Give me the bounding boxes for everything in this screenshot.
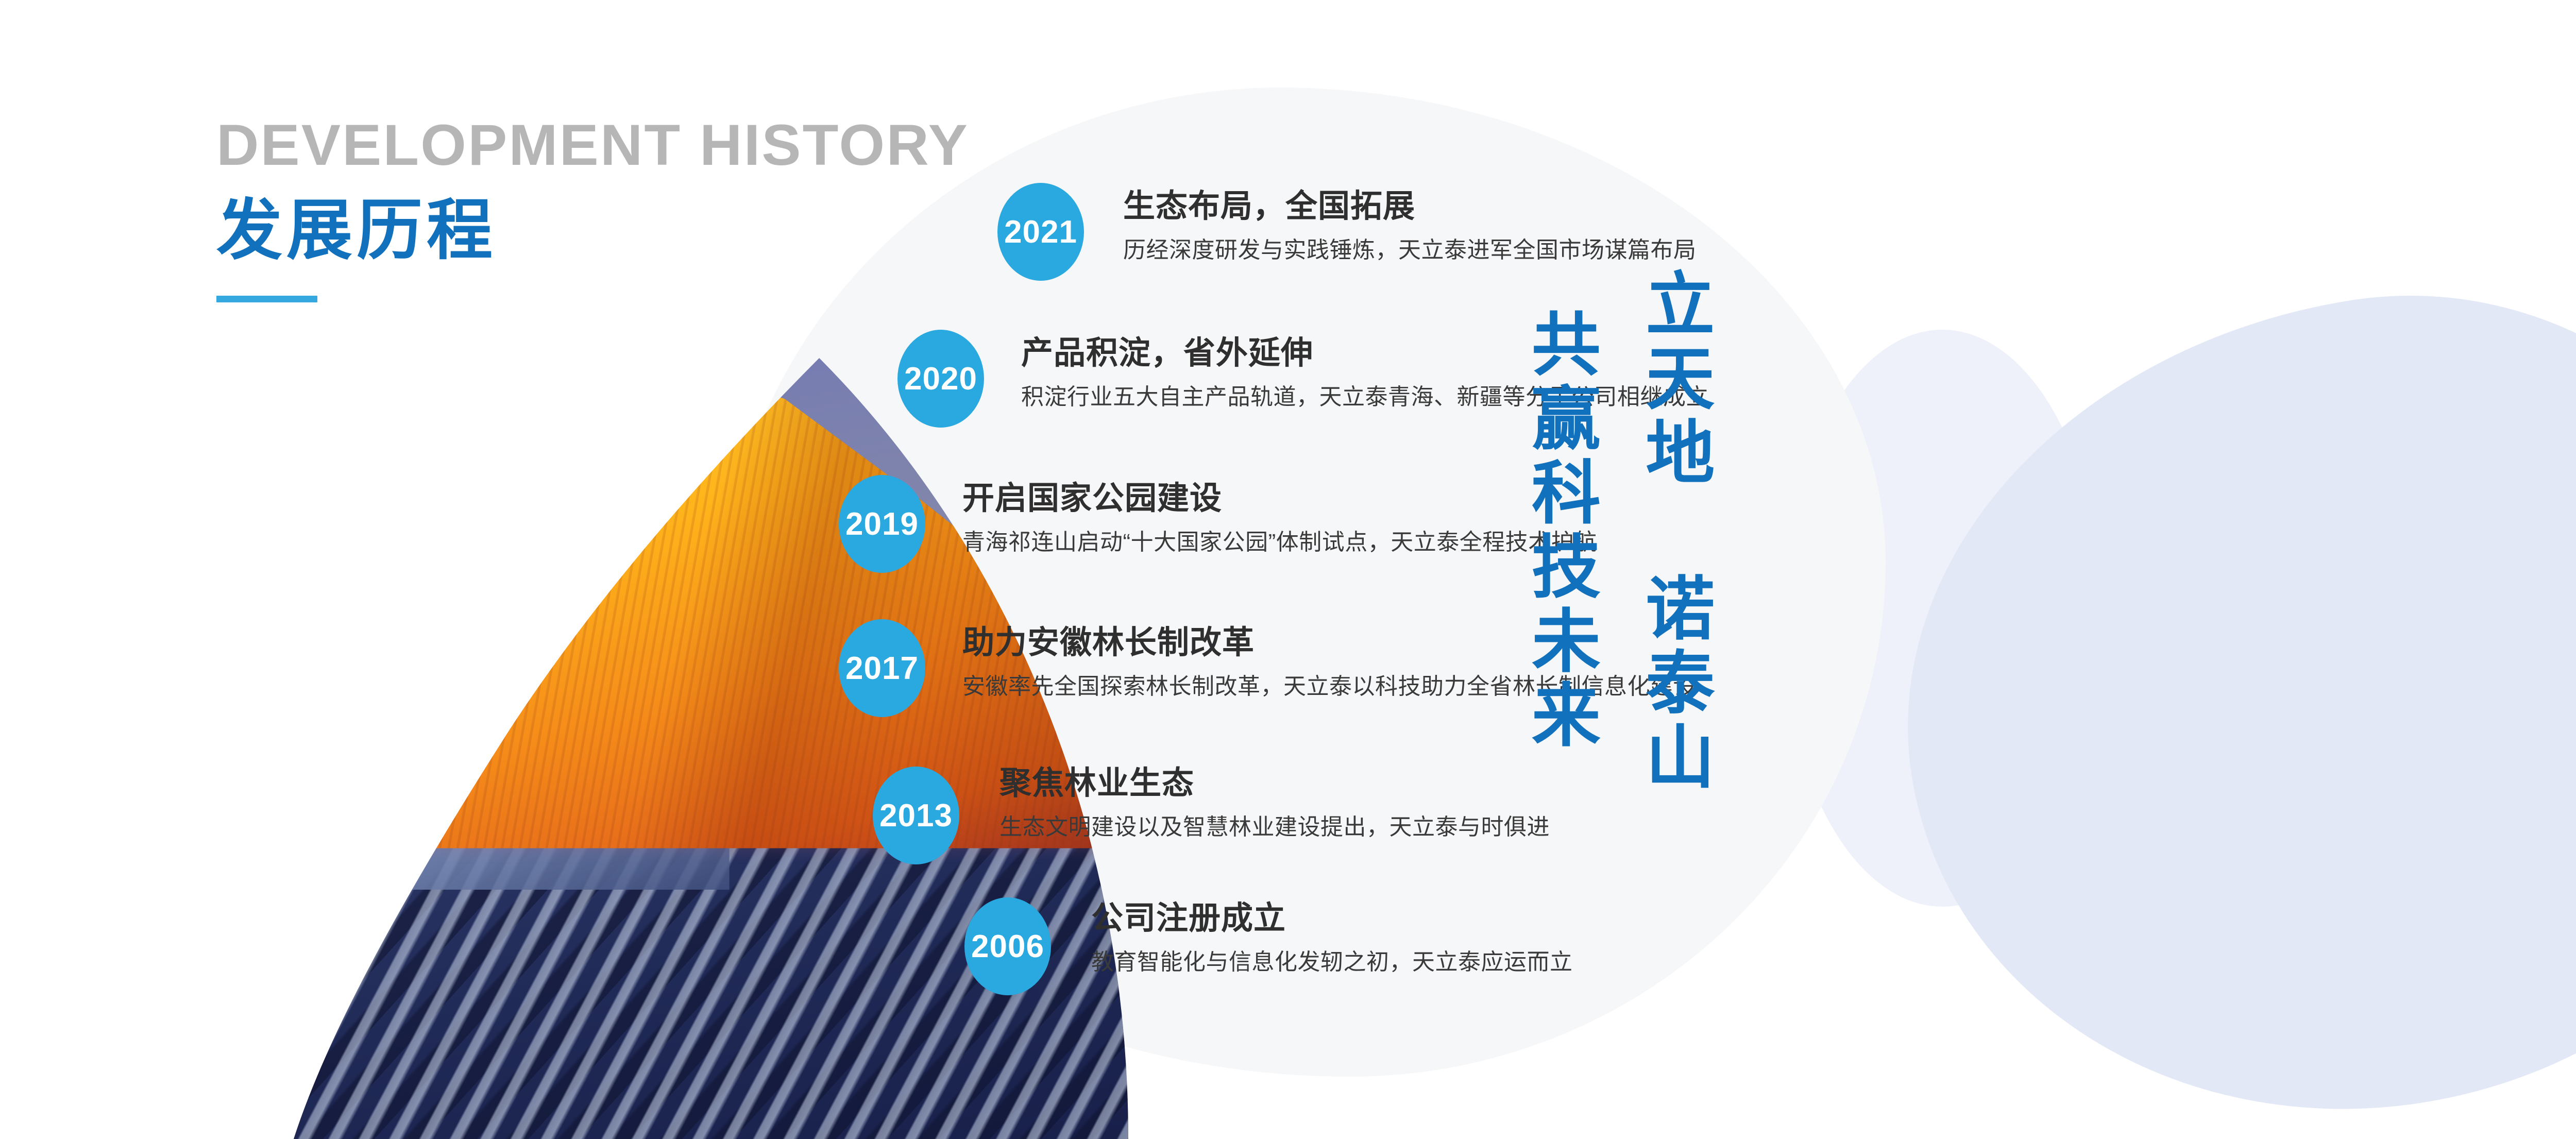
timeline-desc-2013: 生态文明建设以及智慧林业建设提出，天立泰与时俱进 [999, 816, 1550, 839]
timeline-year-badge-2019[interactable]: 2019 [839, 475, 925, 573]
timeline-desc-2021: 历经深度研发与实践锤炼，天立泰进军全国市场谋篇布局 [1123, 239, 1697, 262]
timeline-desc-2019: 青海祁连山启动“十大国家公园”体制试点，天立泰全程技术护航 [962, 531, 1597, 554]
timeline-year-badge-2013[interactable]: 2013 [873, 767, 959, 864]
timeline-title-2021: 生态布局，全国拓展 [1123, 191, 1697, 223]
timeline-text-2006: 公司注册成立 教育智能化与信息化发轫之初，天立泰应运而立 [1091, 903, 1573, 974]
timeline-title-2019: 开启国家公园建设 [962, 483, 1597, 515]
timeline-desc-2006: 教育智能化与信息化发轫之初，天立泰应运而立 [1091, 951, 1573, 974]
timeline-year-badge-2017[interactable]: 2017 [839, 619, 925, 717]
timeline-title-2006: 公司注册成立 [1091, 903, 1573, 934]
slogan-column-right: 立天地 诺泰山 [1632, 268, 1716, 795]
timeline-title-2013: 聚焦林业生态 [999, 768, 1550, 800]
timeline-text-2021: 生态布局，全国拓展 历经深度研发与实践锤炼，天立泰进军全国市场谋篇布局 [1123, 191, 1697, 262]
slogan-column-left: 共赢科技未来 [1517, 308, 1601, 753]
timeline-text-2019: 开启国家公园建设 青海祁连山启动“十大国家公园”体制试点，天立泰全程技术护航 [962, 483, 1597, 554]
slide-canvas: DEVELOPMENT HISTORY 发展历程 2021 生态布局，全国拓展 … [0, 0, 2576, 1139]
timeline-year-badge-2006[interactable]: 2006 [964, 897, 1051, 995]
timeline-text-2013: 聚焦林业生态 生态文明建设以及智慧林业建设提出，天立泰与时俱进 [999, 768, 1550, 839]
vertical-slogan: 共赢科技未来 立天地 诺泰山 [1517, 268, 2558, 795]
timeline-year-badge-2020[interactable]: 2020 [897, 330, 984, 428]
timeline-year-badge-2021[interactable]: 2021 [997, 183, 1084, 281]
